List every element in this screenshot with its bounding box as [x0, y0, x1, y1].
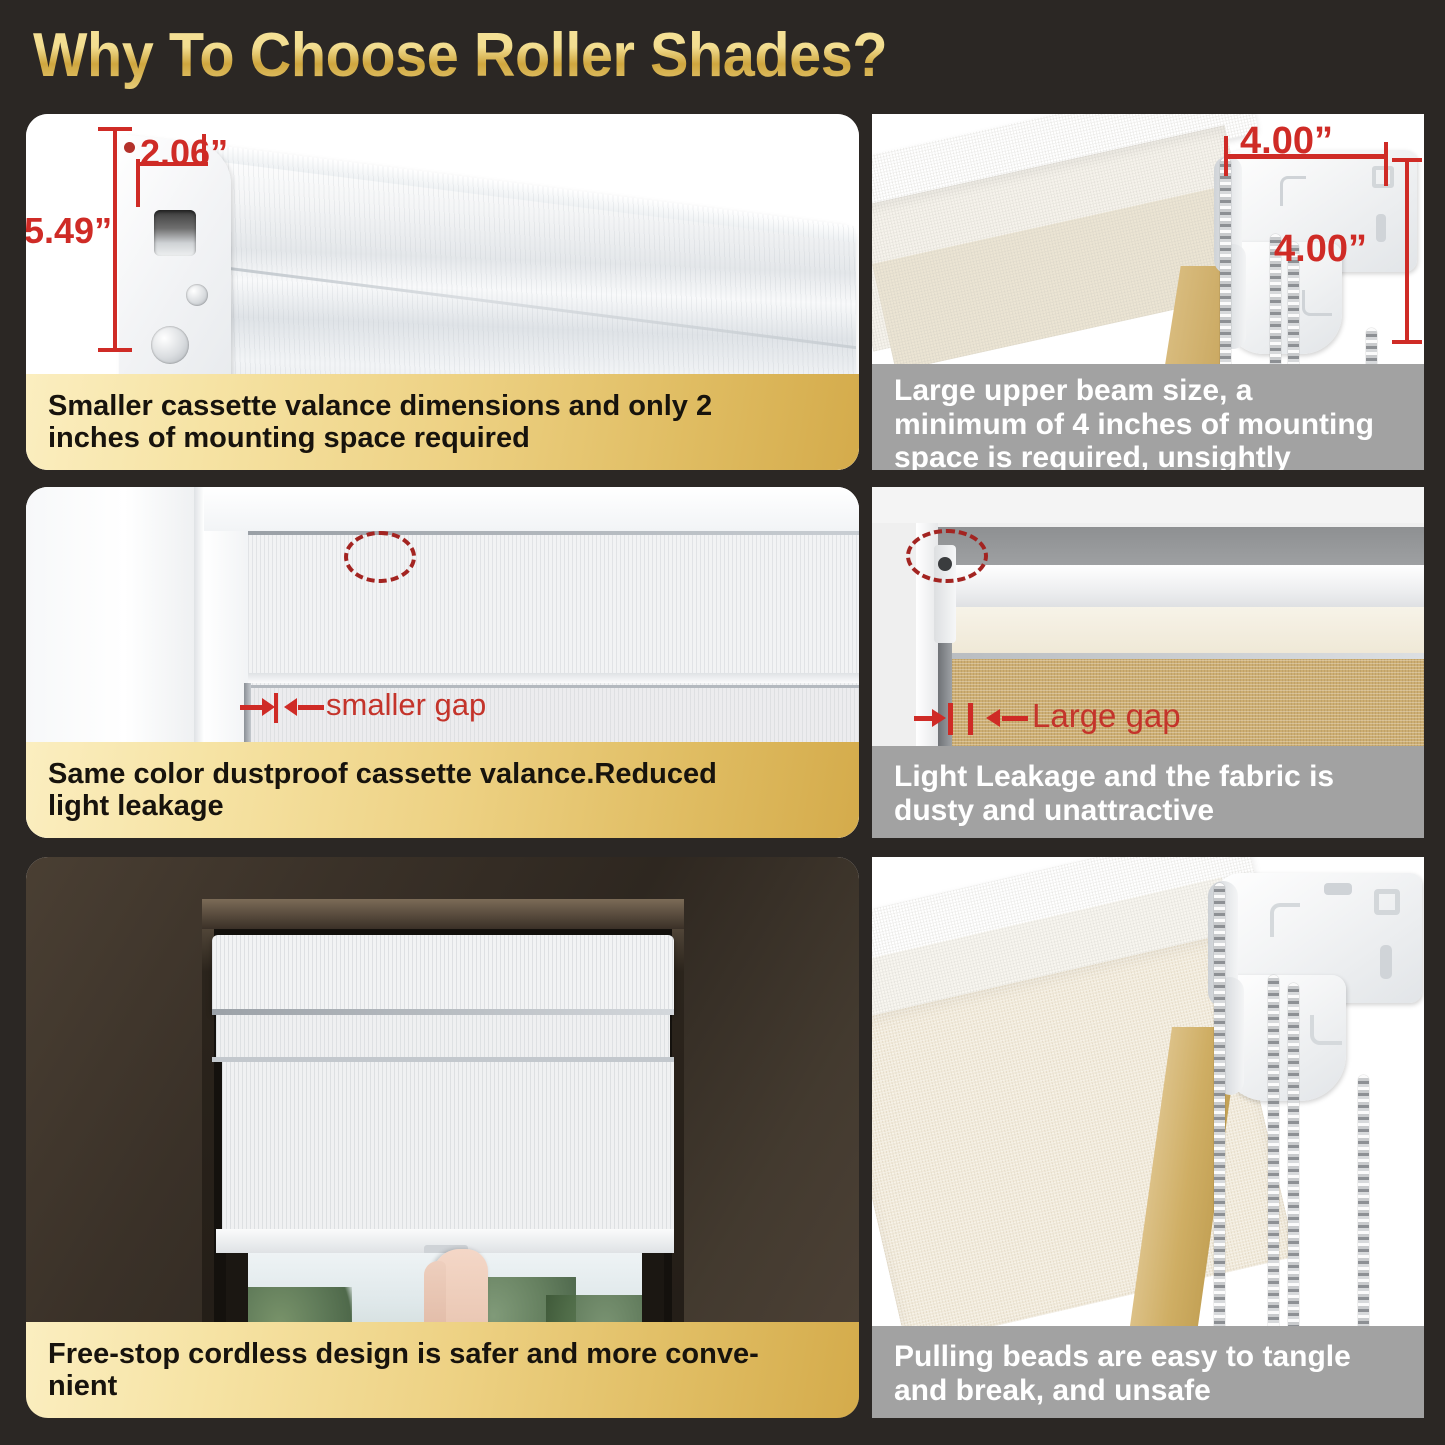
- screw-icon: [151, 326, 189, 364]
- caption-line: space is required, unsightly: [894, 441, 1374, 470]
- bead-chain: [1220, 158, 1231, 373]
- bead-chain: [1358, 1075, 1369, 1353]
- caption-line: minimum of 4 inches of mounting: [894, 408, 1374, 442]
- caption-line: inches of mounting space required: [48, 422, 712, 454]
- bracket-arrow-icon: [1270, 903, 1300, 937]
- panel-top-left: 2.06” 5.49” Smaller cassette valance dim…: [26, 114, 859, 470]
- dimension-label-width: 2.06”: [140, 132, 228, 174]
- caption-top-left: Smaller cassette valance dimensions and …: [26, 374, 859, 470]
- gap-label-smaller: smaller gap: [326, 687, 486, 723]
- bead-chain: [1268, 975, 1279, 1353]
- caption-middle-right: Light Leakage and the fabric is dusty an…: [872, 746, 1424, 838]
- panel-bottom-right: Pulling beads are easy to tangle and bre…: [872, 857, 1424, 1418]
- screw-icon: [186, 284, 208, 306]
- caption-line: Smaller cassette valance dimensions and …: [48, 390, 712, 422]
- gap-label-large: Large gap: [1032, 697, 1181, 735]
- caption-bottom-left: Free-stop cordless design is safer and m…: [26, 1322, 859, 1418]
- bead-chain: [1288, 983, 1299, 1353]
- caption-line: light leakage: [48, 790, 717, 822]
- caption-line: dusty and unattractive: [894, 794, 1334, 828]
- dimension-label-beam-height: 4.00”: [1274, 228, 1367, 271]
- cassette-mount-slot: [154, 210, 196, 256]
- dimension-line-height: [113, 127, 117, 352]
- caption-line: Same color dustproof cassette valance.Re…: [48, 758, 717, 790]
- caption-line: Large upper beam size, a: [894, 374, 1374, 408]
- caption-line: nient: [48, 1370, 759, 1402]
- dimension-label-beam-width: 4.00”: [1240, 120, 1333, 163]
- caption-top-right: Large upper beam size, a minimum of 4 in…: [872, 364, 1424, 470]
- panel-middle-right: Large gap Light Leakage and the fabric i…: [872, 487, 1424, 838]
- caption-line: Light Leakage and the fabric is: [894, 760, 1334, 794]
- highlight-ellipse: [906, 529, 988, 583]
- panel-top-right: 4.00” 4.00” Large upper beam size, a min…: [872, 114, 1424, 470]
- caption-middle-left: Same color dustproof cassette valance.Re…: [26, 742, 859, 838]
- page-title: Why To Choose Roller Shades?: [33, 20, 887, 91]
- caption-bottom-right: Pulling beads are easy to tangle and bre…: [872, 1326, 1424, 1418]
- caption-line: and break, and unsafe: [894, 1374, 1351, 1408]
- caption-line: Pulling beads are easy to tangle: [894, 1340, 1351, 1374]
- highlight-ellipse: [344, 531, 416, 583]
- dimension-label-height: 5.49”: [26, 210, 112, 252]
- infographic-page: Why To Choose Roller Shades? 2.06” 5.49”…: [0, 0, 1445, 1445]
- bracket-arrow-icon: [1310, 1015, 1342, 1045]
- caption-line: Free-stop cordless design is safer and m…: [48, 1338, 759, 1370]
- dimension-cap-top: [98, 127, 132, 131]
- dimension-cap-bottom: [98, 348, 132, 352]
- panel-bottom-left: Free-stop cordless design is safer and m…: [26, 857, 859, 1418]
- panel-middle-left: smaller gap Same color dustproof cassett…: [26, 487, 859, 838]
- bead-chain: [1214, 883, 1225, 1353]
